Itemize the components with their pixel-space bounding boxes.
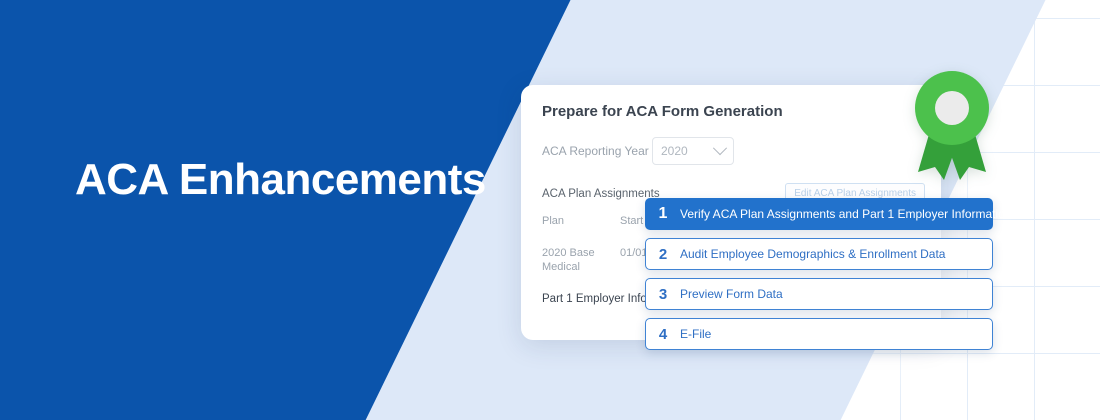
- chevron-down-icon: [713, 141, 727, 155]
- step-number: 1: [646, 205, 680, 223]
- step-number: 2: [646, 246, 680, 263]
- step-item-3[interactable]: 3 Preview Form Data: [645, 278, 993, 310]
- step-label: Verify ACA Plan Assignments and Part 1 E…: [680, 207, 1012, 221]
- step-label: E-File: [680, 327, 711, 341]
- aca-enhancements-banner: ACA Enhancements Prepare for ACA Form Ge…: [0, 0, 1100, 420]
- aca-plan-assignments-label: ACA Plan Assignments: [542, 188, 660, 200]
- reporting-year-select[interactable]: 2020: [652, 137, 734, 165]
- step-label: Preview Form Data: [680, 287, 783, 301]
- step-item-4[interactable]: 4 E-File: [645, 318, 993, 350]
- step-item-2[interactable]: 2 Audit Employee Demographics & Enrollme…: [645, 238, 993, 270]
- reporting-year-label: ACA Reporting Year: [542, 144, 652, 158]
- aca-steps-list: 1 Verify ACA Plan Assignments and Part 1…: [645, 198, 993, 350]
- page-title: ACA Enhancements: [75, 155, 486, 205]
- cell-plan: 2020 Base Medical: [542, 247, 620, 275]
- step-number: 3: [646, 286, 680, 303]
- reporting-year-field: ACA Reporting Year 2020: [542, 137, 734, 165]
- step-number: 4: [646, 326, 680, 343]
- step-label: Audit Employee Demographics & Enrollment…: [680, 247, 945, 261]
- step-item-1[interactable]: 1 Verify ACA Plan Assignments and Part 1…: [645, 198, 993, 230]
- reporting-year-value: 2020: [661, 144, 688, 158]
- award-ribbon-icon: [910, 68, 994, 184]
- column-header-plan: Plan: [542, 215, 620, 229]
- card-title: Prepare for ACA Form Generation: [542, 103, 783, 120]
